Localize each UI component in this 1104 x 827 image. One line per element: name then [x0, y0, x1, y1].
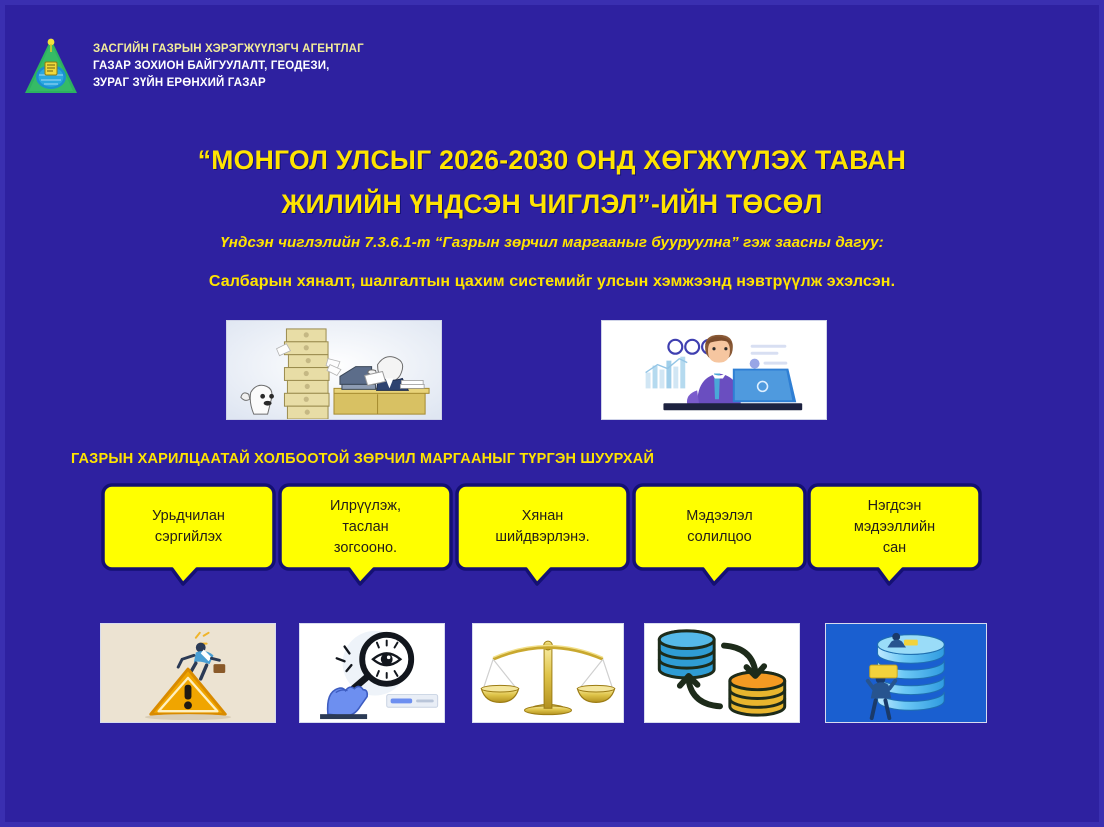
unified-database-stack-image [825, 623, 987, 723]
database-exchange-arrows-image [644, 623, 800, 723]
org-line-1: ЗАСГИЙН ГАЗРЫН ХЭРЭГЖҮҮЛЭГЧ АГЕНТЛАГ [93, 41, 364, 58]
agency-emblem-icon [23, 35, 79, 102]
icon-picture-row [5, 623, 1099, 725]
callout-label-3: Мэдээлэл солилцоо [632, 483, 807, 571]
callout-bubble-2[interactable]: Хянан шийдвэрлэнэ. [455, 483, 630, 575]
organization-header: ЗАСГИЙН ГАЗРЫН ХЭРЭГЖҮҮЛЭГЧ АГЕНТЛАГ ГАЗ… [23, 35, 364, 102]
digital-worker-illustration-image [601, 320, 827, 420]
callout-label-2: Хянан шийдвэрлэнэ. [455, 483, 630, 571]
callout-bubble-3[interactable]: Мэдээлэл солилцоо [632, 483, 807, 575]
section-header: ГАЗРЫН ХАРИЛЦААТАЙ ХОЛБООТОЙ ЗӨРЧИЛ МАРГ… [71, 451, 654, 467]
callout-label-0: Урьдчилан сэргийлэх [101, 483, 276, 571]
quote-subtitle: Үндсэн чиглэлийн 7.3.6.1-т “Газрын зөрчи… [5, 234, 1099, 251]
callout-row: Урьдчилан сэргийлэх Илрүүлэж, таслан зог… [5, 483, 1099, 593]
callout-bubble-0[interactable]: Урьдчилан сэргийлэх [101, 483, 276, 575]
before-after-flow [5, 320, 1099, 430]
presentation-slide: ЗАСГИЙН ГАЗРЫН ХЭРЭГЖҮҮЛЭГЧ АГЕНТЛАГ ГАЗ… [0, 0, 1104, 827]
callout-bubble-4[interactable]: Нэгдсэн мэдээллийн сан [807, 483, 982, 575]
magnifier-eye-inspection-image [299, 623, 445, 723]
statement-subtitle: Салбарын хяналт, шалгалтын цахим системи… [5, 273, 1099, 291]
title-line-1: “МОНГОЛ УЛСЫГ 2026-2030 ОНД ХӨГЖҮҮЛЭХ ТА… [5, 138, 1099, 182]
paperwork-stack-cartoon-image [226, 320, 442, 420]
scales-of-justice-image [472, 623, 624, 723]
page-title: “МОНГОЛ УЛСЫГ 2026-2030 ОНД ХӨГЖҮҮЛЭХ ТА… [5, 138, 1099, 226]
callout-label-1: Илрүүлэж, таслан зогсооно. [278, 483, 453, 571]
callout-bubble-1[interactable]: Илрүүлэж, таслан зогсооно. [278, 483, 453, 575]
callout-label-4: Нэгдсэн мэдээллийн сан [807, 483, 982, 571]
organization-name-block: ЗАСГИЙН ГАЗРЫН ХЭРЭГЖҮҮЛЭГЧ АГЕНТЛАГ ГАЗ… [93, 35, 364, 92]
org-line-2: ГАЗАР ЗОХИОН БАЙГУУЛАЛТ, ГЕОДЕЗИ, [93, 58, 364, 75]
warning-triangle-falling-person-image [100, 623, 276, 723]
org-line-3: ЗУРАГ ЗҮЙН ЕРӨНХИЙ ГАЗАР [93, 75, 364, 92]
title-line-2: ЖИЛИЙН ҮНДСЭН ЧИГЛЭЛ”-ИЙН ТӨСӨЛ [5, 182, 1099, 226]
